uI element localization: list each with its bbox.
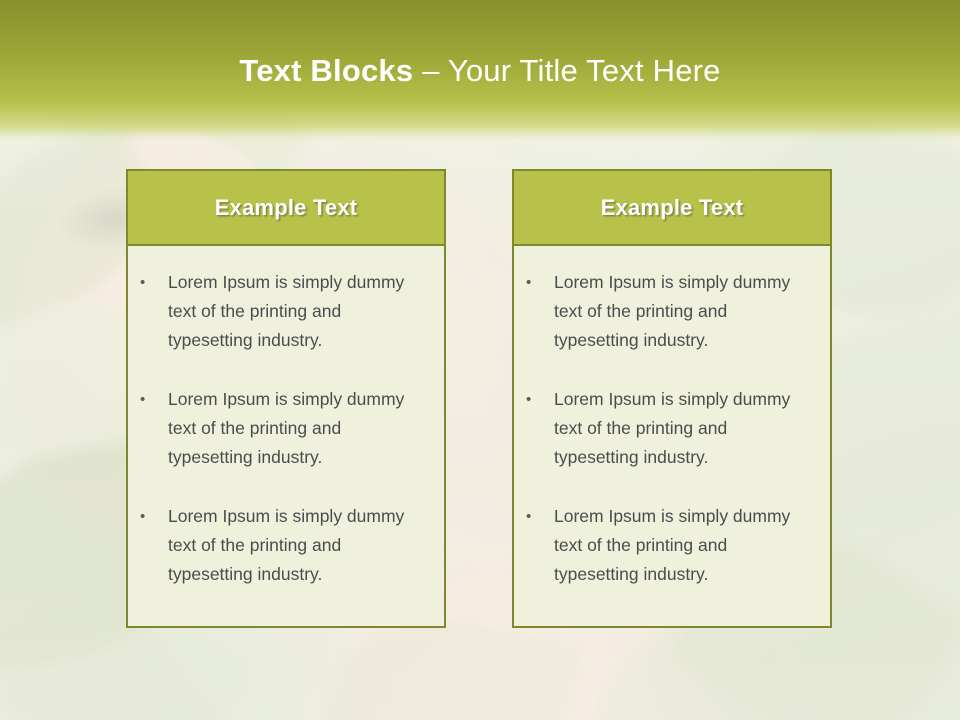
slide: Text Blocks – Your Title Text Here Examp… <box>0 0 960 720</box>
list-item-text: Lorem Ipsum is simply dummy text of the … <box>168 268 430 355</box>
list-item: • Lorem Ipsum is simply dummy text of th… <box>138 385 430 472</box>
text-blocks-container: Example Text • Lorem Ipsum is simply dum… <box>126 169 834 629</box>
list-item-text: Lorem Ipsum is simply dummy text of the … <box>554 502 816 589</box>
text-block-right: Example Text • Lorem Ipsum is simply dum… <box>512 169 832 628</box>
page-title: Text Blocks – Your Title Text Here <box>0 52 960 90</box>
bullet-icon: • <box>524 385 554 414</box>
page-title-strong: Text Blocks <box>239 53 422 88</box>
list-item: • Lorem Ipsum is simply dummy text of th… <box>138 502 430 589</box>
bullet-icon: • <box>138 502 168 531</box>
list-item: • Lorem Ipsum is simply dummy text of th… <box>524 502 816 589</box>
list-item-text: Lorem Ipsum is simply dummy text of the … <box>168 502 430 589</box>
text-block-left-header-label: Example Text <box>215 195 358 221</box>
text-block-right-header: Example Text <box>514 171 830 246</box>
page-title-light: – Your Title Text Here <box>422 53 721 88</box>
list-item-text: Lorem Ipsum is simply dummy text of the … <box>554 385 816 472</box>
text-block-right-body: • Lorem Ipsum is simply dummy text of th… <box>514 246 830 589</box>
list-item: • Lorem Ipsum is simply dummy text of th… <box>524 385 816 472</box>
text-block-left-body: • Lorem Ipsum is simply dummy text of th… <box>128 246 444 589</box>
text-block-left: Example Text • Lorem Ipsum is simply dum… <box>126 169 446 628</box>
list-item: • Lorem Ipsum is simply dummy text of th… <box>138 268 430 355</box>
bullet-icon: • <box>138 268 168 297</box>
list-item: • Lorem Ipsum is simply dummy text of th… <box>524 268 816 355</box>
text-block-right-header-label: Example Text <box>601 195 744 221</box>
list-item-text: Lorem Ipsum is simply dummy text of the … <box>554 268 816 355</box>
bullet-icon: • <box>138 385 168 414</box>
list-item-text: Lorem Ipsum is simply dummy text of the … <box>168 385 430 472</box>
bullet-icon: • <box>524 502 554 531</box>
text-block-left-header: Example Text <box>128 171 444 246</box>
bullet-icon: • <box>524 268 554 297</box>
title-banner: Text Blocks – Your Title Text Here <box>0 0 960 142</box>
